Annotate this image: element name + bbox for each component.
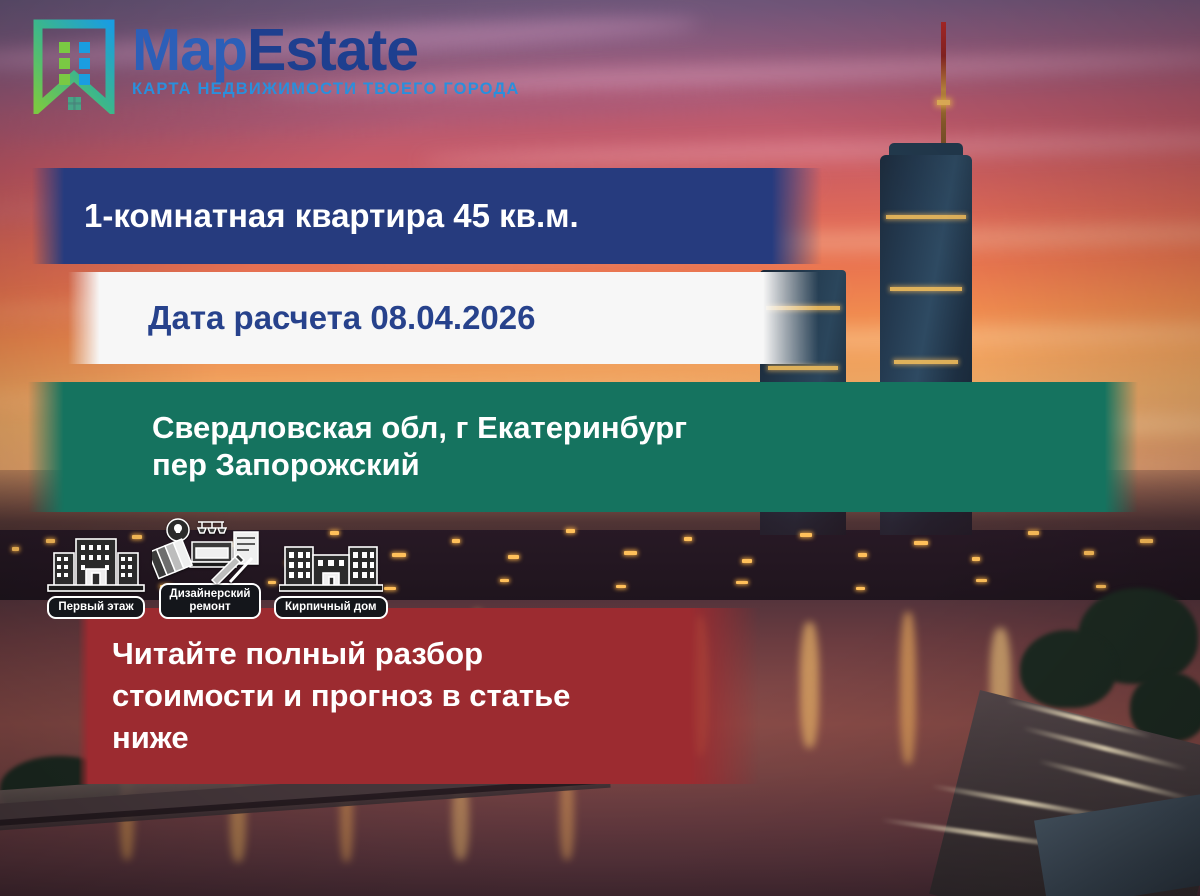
brand-name-map: Map <box>132 17 247 83</box>
brand-name: MapEstate <box>132 17 418 83</box>
calculation-date-banner: Дата расчета 08.04.2026 <box>68 272 858 364</box>
feature-badge-designer-renovation[interactable]: Дизайнерский ремонт <box>152 518 268 619</box>
feature-badges: Первый этаж <box>46 518 388 619</box>
brand-tagline: КАРТА НЕДВИЖИМОСТИ ТВОЕГО ГОРОДА <box>132 80 520 99</box>
address-banner: Свердловская обл, г Екатеринбург пер Зап… <box>28 382 1138 512</box>
calculation-date-text: Дата расчета 08.04.2026 <box>68 299 535 338</box>
brand-name-estate: Estate <box>247 17 418 83</box>
brand-logo[interactable]: MapEstate КАРТА НЕДВИЖИМОСТИ ТВОЕГО ГОРО… <box>30 18 520 114</box>
promo-poster: MapEstate КАРТА НЕДВИЖИМОСТИ ТВОЕГО ГОРО… <box>0 0 1200 896</box>
cta-banner: Читайте полный разбор стоимости и прогно… <box>78 608 788 784</box>
apartment-title-text: 1-комнатная квартира 45 кв.м. <box>32 197 579 236</box>
address-text: Свердловская обл, г Екатеринбург пер Зап… <box>28 410 687 483</box>
apartment-title-banner: 1-комнатная квартира 45 кв.м. <box>32 168 1032 264</box>
brand-wordmark: MapEstate КАРТА НЕДВИЖИМОСТИ ТВОЕГО ГОРО… <box>132 18 520 99</box>
feature-badge-first-floor[interactable]: Первый этаж <box>46 535 146 619</box>
design-tools-icon <box>152 518 268 589</box>
cta-text: Читайте полный разбор стоимости и прогно… <box>78 633 570 759</box>
bookmark-building-icon <box>30 18 118 114</box>
low-rise-building-icon <box>46 535 146 602</box>
feature-badge-brick-house[interactable]: Кирпичный дом <box>274 535 388 619</box>
brick-building-icon <box>279 535 383 602</box>
